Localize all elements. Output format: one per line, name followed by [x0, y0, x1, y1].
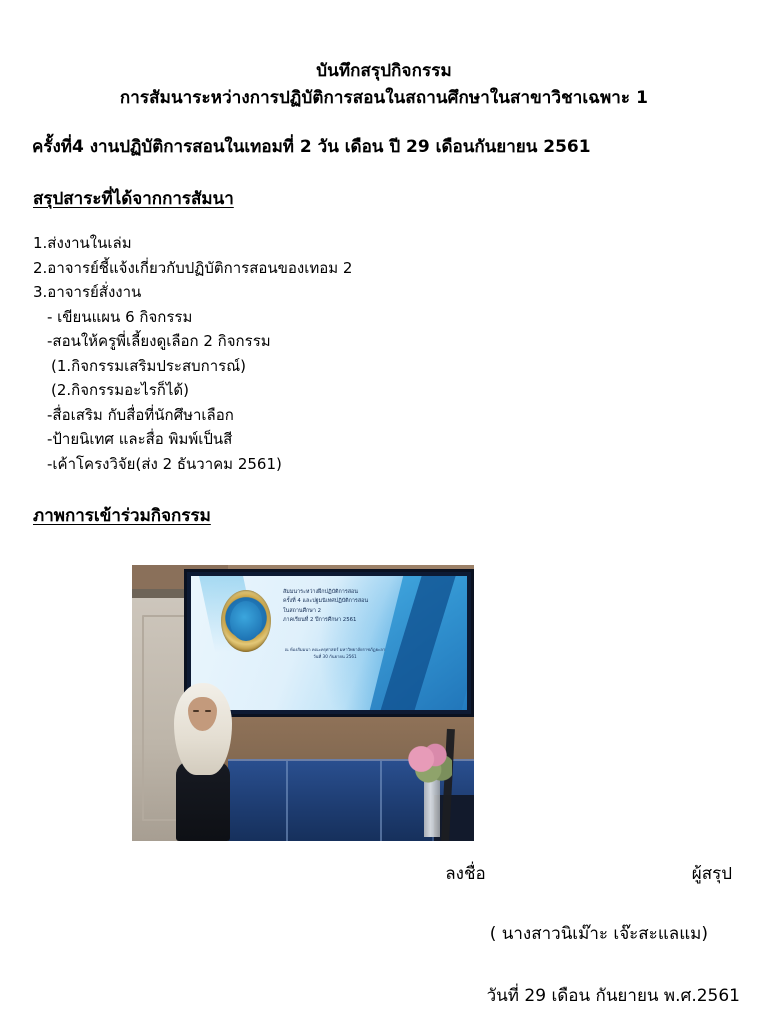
- list-sub-item: -สื่อเสริม กับสื่อที่นักศึษาเลือก: [33, 403, 768, 428]
- slide-footer-block: ณ ห้องสัมมนา คณะครุศาสตร์ มหาวิทยาลัยราช…: [225, 646, 445, 660]
- photo-section-heading: ภาพการเข้าร่วมกิจกรรม: [0, 504, 768, 528]
- university-seal-icon: [221, 590, 271, 652]
- slide-text-line-2: ครั้งที่ 4 และปฐมนิเทศปฏิบัติการสอน: [283, 597, 457, 606]
- signature-label: ลงชื่อ: [445, 862, 485, 886]
- list-sub-item: - เขียนแผน 6 กิจกรรม: [33, 305, 768, 330]
- list-item: 1.ส่งงานในเล่ม: [33, 231, 768, 256]
- photo-vase-stand: [424, 779, 440, 837]
- slide-text-line-3: ในสถานศึกษา 2: [283, 607, 457, 616]
- slide-text-line-4: ภาคเรียนที่ 2 ปีการศึกษา 2561: [283, 616, 457, 625]
- activity-photo: สัมมนาระหว่างฝึกปฏิบัติการสอน ครั้งที่ 4…: [132, 565, 474, 841]
- summary-items-list: 1.ส่งงานในเล่ม 2.อาจารย์ชี้แจ้งเกี่ยวกับ…: [0, 231, 768, 476]
- signature-name: ( นางสาวนิเม๊าะ เจ๊ะสะแลแม): [0, 922, 768, 946]
- list-sub-item: (1.กิจกรรมเสริมประสบการณ์): [33, 354, 768, 379]
- list-item: 3.อาจารย์สั่งงาน: [33, 280, 768, 305]
- list-sub-item: -ป้ายนิเทศ และสื่อ พิมพ์เป็นสี: [33, 427, 768, 452]
- signature-role-label: ผู้สรุป: [692, 862, 732, 886]
- photo-person: [166, 683, 240, 841]
- slide-footer-line-1: ณ ห้องสัมมนา คณะครุศาสตร์ มหาวิทยาลัยราช…: [225, 646, 445, 653]
- photo-flowers: [408, 743, 452, 783]
- signature-date: วันที่ 29 เดือน กันยายน พ.ศ.2561: [0, 984, 768, 1008]
- summary-section-heading-text: สรุปสาระที่ได้จากการสัมนา: [33, 189, 234, 209]
- list-sub-item: -เค้าโครงวิจัย(ส่ง 2 ธันวาคม 2561): [33, 452, 768, 477]
- list-sub-item: (2.กิจกรรมอะไรก็ได้): [33, 378, 768, 403]
- activity-photo-image: สัมมนาระหว่างฝึกปฏิบัติการสอน ครั้งที่ 4…: [132, 565, 474, 841]
- document-page: บันทึกสรุปกิจกรรม การสัมนาระหว่างการปฏิบ…: [0, 0, 768, 1024]
- signature-block: ลงชื่อ ผู้สรุป ( นางสาวนิเม๊าะ เจ๊ะสะแลแ…: [0, 862, 768, 1008]
- photo-section-heading-text: ภาพการเข้าร่วมกิจกรรม: [33, 506, 211, 526]
- slide-text-line-1: สัมมนาระหว่างฝึกปฏิบัติการสอน: [283, 588, 457, 597]
- list-item: 2.อาจารย์ชี้แจ้งเกี่ยวกับปฏิบัติการสอนขอ…: [33, 256, 768, 281]
- document-title-line-2: การสัมนาระหว่างการปฏิบัติการสอนในสถานศึก…: [0, 84, 768, 112]
- summary-section-heading: สรุปสาระที่ได้จากการสัมนา: [0, 187, 768, 211]
- document-title-block: บันทึกสรุปกิจกรรม การสัมนาระหว่างการปฏิบ…: [0, 0, 768, 112]
- slide-text-block: สัมมนาระหว่างฝึกปฏิบัติการสอน ครั้งที่ 4…: [283, 588, 457, 626]
- signature-line-row: ลงชื่อ ผู้สรุป: [0, 862, 768, 886]
- session-date-line: ครั้งที่4 งานปฏิบัติการสอนในเทอมที่ 2 วั…: [0, 135, 768, 159]
- list-sub-item: -สอนให้ครูพี่เลี้ยงดูเลือก 2 กิจกรรม: [33, 329, 768, 354]
- slide-footer-line-2: วันที่ 30 กันยายน 2561: [225, 653, 445, 660]
- document-title-line-1: บันทึกสรุปกิจกรรม: [0, 58, 768, 84]
